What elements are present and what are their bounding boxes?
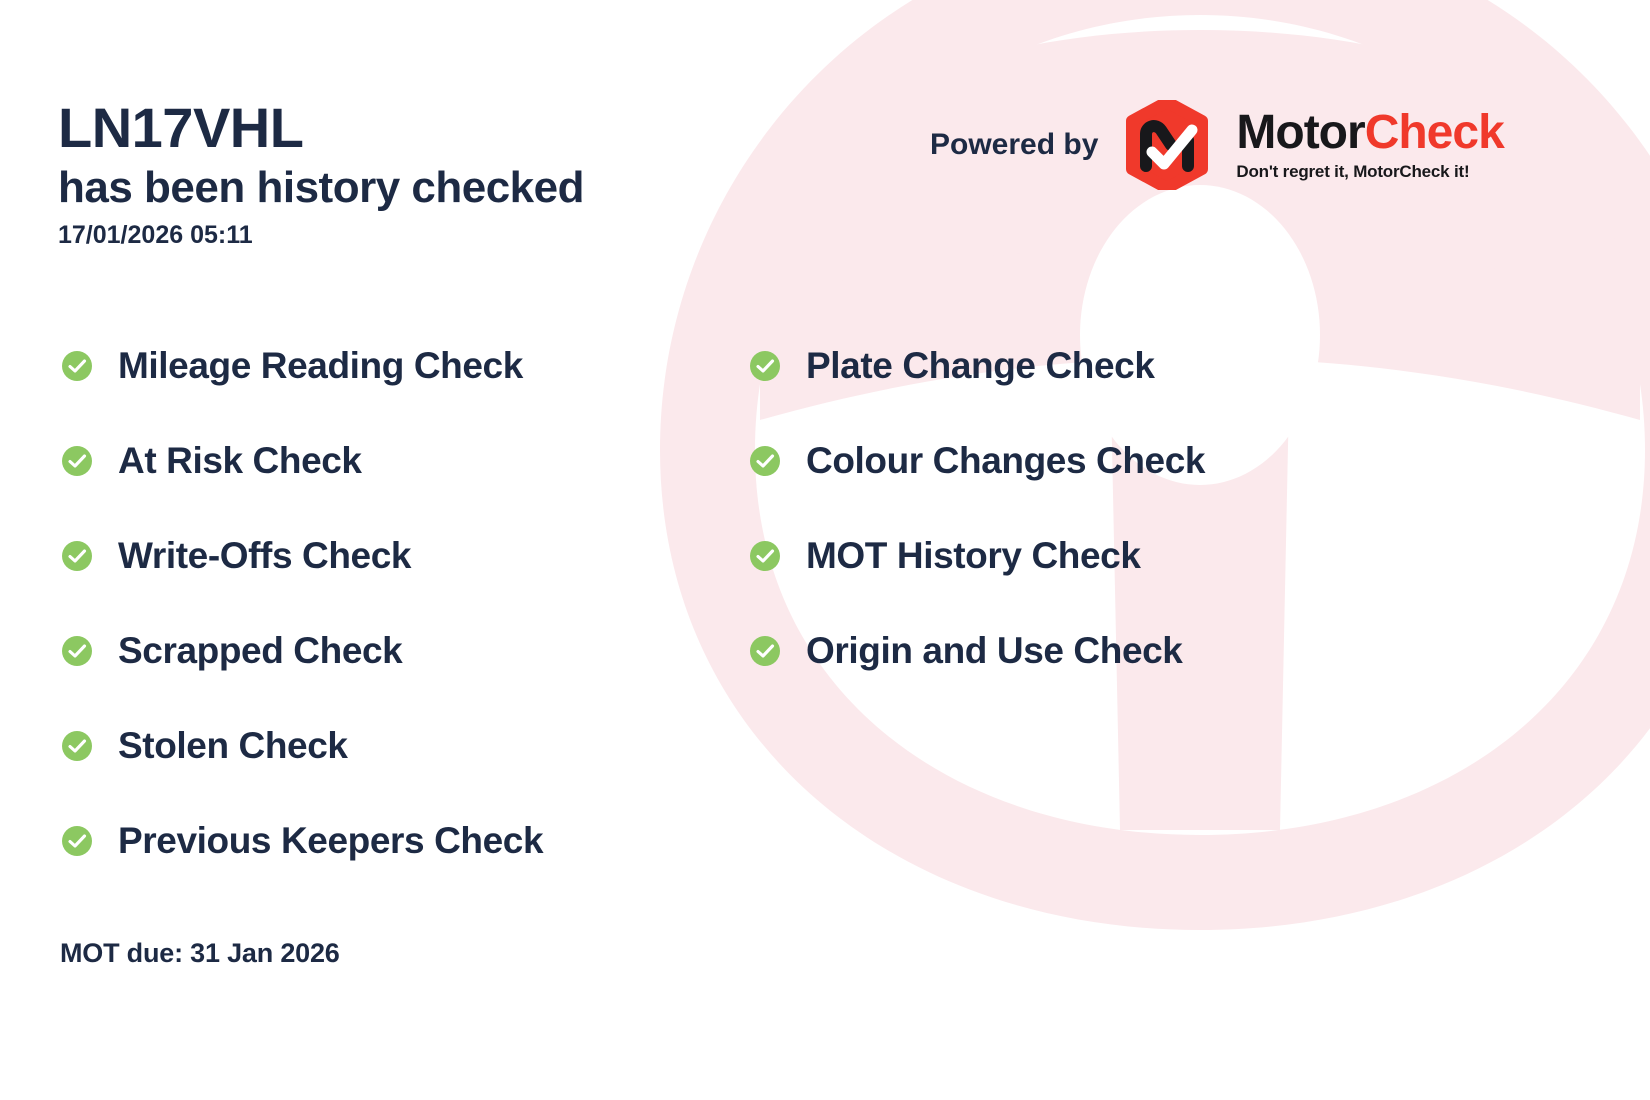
check-item-label: Colour Changes Check [806,440,1205,482]
check-item-label: MOT History Check [806,535,1141,577]
wordmark-motor: Motor [1236,106,1364,159]
brand-tagline: Don't regret it, MotorCheck it! [1236,162,1503,182]
check-item: Plate Change Check [750,318,850,413]
green-check-circle-icon [750,541,780,571]
green-check-circle-icon [750,636,780,666]
check-timestamp: 17/01/2026 05:11 [58,221,584,250]
green-check-circle-icon [750,351,780,381]
registration-block: LN17VHL has been history checked 17/01/2… [58,100,584,250]
check-item: Colour Changes Check [750,413,850,508]
powered-by-label: Powered by [930,128,1098,162]
check-item-label: Origin and Use Check [806,630,1183,672]
page-title: has been history checked [58,160,584,215]
mot-due-label: MOT due: 31 Jan 2026 [60,938,340,969]
check-item: Origin and Use Check [750,603,850,698]
wordmark-row: MotorCheck [1236,109,1503,157]
checks-column-right: Plate Change CheckColour Changes CheckMO… [0,318,850,888]
checks-grid: Mileage Reading CheckAt Risk CheckWrite-… [0,318,1650,888]
registration-plate: LN17VHL [58,100,584,156]
motorcheck-wordmark: MotorCheck Don't regret it, MotorCheck i… [1236,109,1503,182]
vehicle-history-check-card: LN17VHL has been history checked 17/01/2… [0,0,1650,1100]
green-check-circle-icon [750,446,780,476]
motorcheck-hexagon-logo-icon [1124,100,1210,190]
wordmark-check: Check [1365,106,1504,159]
powered-by-brand[interactable]: Powered by MotorCheck Don't regret it, M… [930,100,1504,190]
check-item-label: Plate Change Check [806,345,1155,387]
check-item: MOT History Check [750,508,850,603]
